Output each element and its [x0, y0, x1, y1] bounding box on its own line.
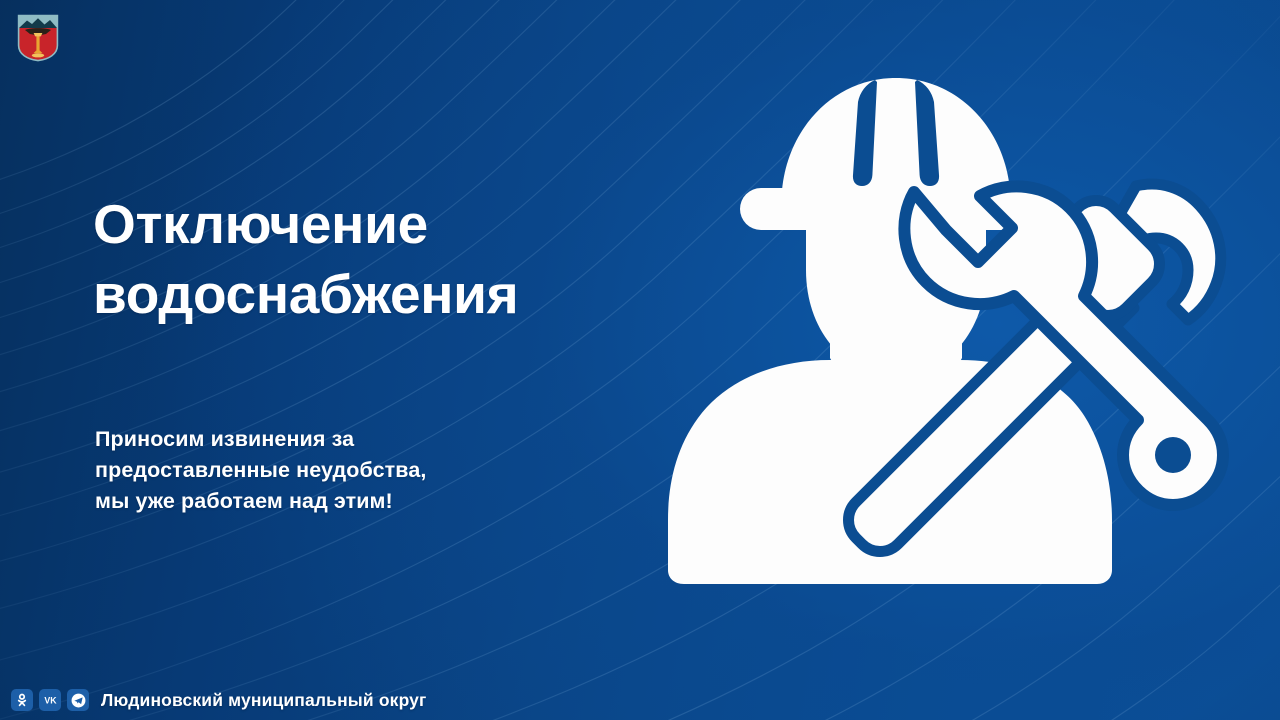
subtext-line-2: предоставленные неудобства, [95, 455, 565, 486]
svg-text:VK: VK [44, 695, 57, 705]
telegram-icon[interactable] [67, 689, 89, 711]
footer: VK Людиновский муниципальный округ [11, 689, 427, 711]
apology-message: Приносим извинения за предоставленные не… [95, 424, 565, 517]
headline-line-2: водоснабжения [93, 260, 653, 330]
odnoklassniki-icon[interactable] [11, 689, 33, 711]
announcement-slide: Отключение водоснабжения Приносим извине… [0, 0, 1280, 720]
coat-of-arms-icon [17, 14, 59, 62]
vkontakte-icon[interactable]: VK [39, 689, 61, 711]
page-title: Отключение водоснабжения [93, 190, 653, 330]
footer-label: Людиновский муниципальный округ [101, 690, 427, 711]
subtext-line-3: мы уже работаем над этим! [95, 486, 565, 517]
subtext-line-1: Приносим извинения за [95, 424, 565, 455]
worker-with-tools-icon [660, 70, 1240, 590]
headline-line-1: Отключение [93, 190, 653, 260]
